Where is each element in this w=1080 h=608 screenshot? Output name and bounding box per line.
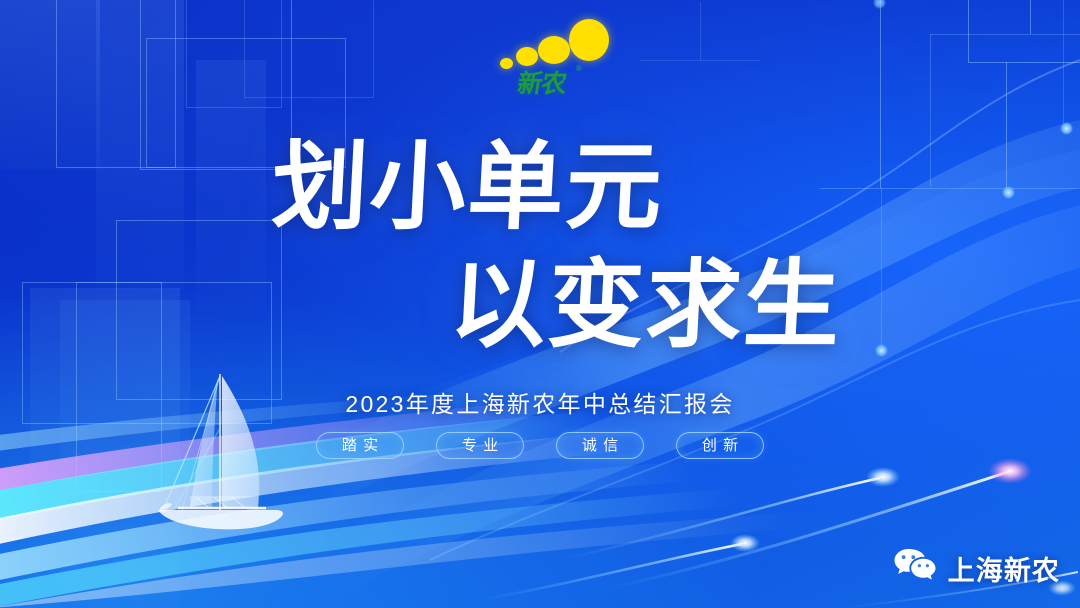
- value-tag[interactable]: 专业: [436, 432, 524, 459]
- logo-wordmark: 新农: [515, 64, 569, 100]
- value-tag-list: 踏实 专业 诚信 创新: [0, 432, 1080, 459]
- poster-subtitle: 2023年度上海新农年中总结汇报会: [0, 385, 1080, 419]
- rect-outline: [186, 0, 282, 108]
- title-line-2: 以变求生: [447, 258, 1080, 354]
- circuit-dot: [873, 0, 886, 9]
- rect-outline: [244, 0, 374, 98]
- wechat-account-footer[interactable]: 上海新农: [893, 547, 1060, 590]
- value-tag[interactable]: 诚信: [556, 432, 644, 459]
- logo-wordmark-text: 新农: [515, 70, 567, 98]
- value-tag[interactable]: 创新: [676, 432, 764, 459]
- logo-dot-3: [538, 36, 570, 64]
- poster-canvas: 新农 ® 划小单元 以变求生 2023年度上海新农年中总结汇报会 踏实 专业 诚…: [0, 0, 1080, 608]
- value-tag[interactable]: 踏实: [316, 432, 404, 459]
- logo-dot-1: [500, 58, 513, 69]
- wechat-icon: [893, 547, 937, 590]
- circuit-dot: [1060, 122, 1073, 135]
- logo-trademark: ®: [576, 64, 582, 73]
- poster-title: 划小单元 以变求生: [0, 140, 1080, 354]
- wechat-account-name: 上海新农: [948, 549, 1060, 588]
- brand-logo: 新农 ®: [496, 14, 600, 98]
- logo-dot-4: [569, 19, 609, 61]
- title-line-1: 划小单元: [269, 140, 1080, 236]
